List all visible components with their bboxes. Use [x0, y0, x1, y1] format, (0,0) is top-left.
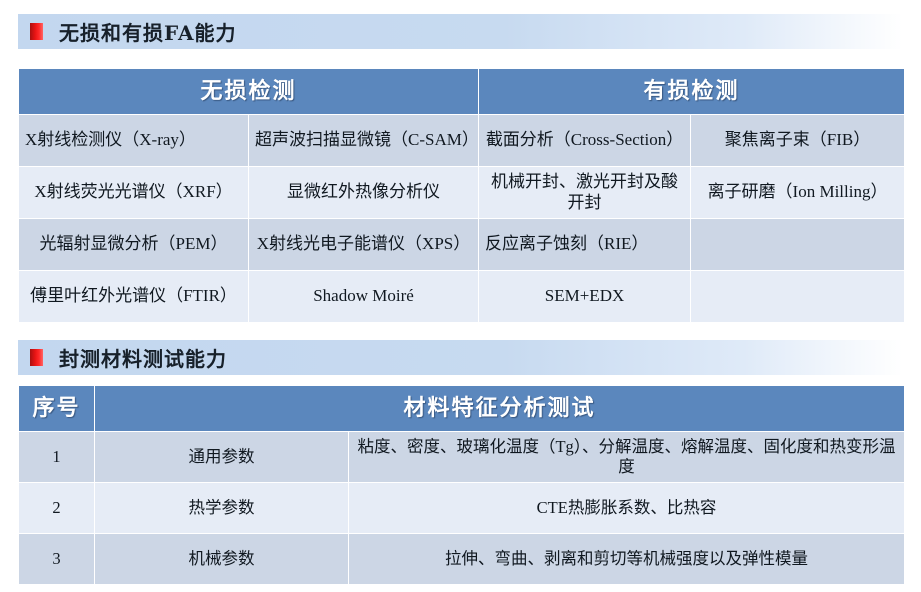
fa-capability-table: 无损检测 有损检测 X射线检测仪（X-ray） 超声波扫描显微镜（C-SAM） … — [18, 68, 905, 323]
cell-d-1-2: 聚焦离子束（FIB） — [691, 115, 905, 167]
cell-mat-2-category: 热学参数 — [95, 483, 349, 534]
cell-mat-1-detail: 粘度、密度、玻璃化温度（Tg）、分解温度、熔解温度、固化度和热变形温度 — [349, 432, 905, 483]
cell-d-4-1: SEM+EDX — [479, 271, 691, 323]
table-row: X射线荧光光谱仪（XRF） 显微红外热像分析仪 机械开封、激光开封及酸开封 离子… — [19, 167, 905, 219]
table-row: 光辐射显微分析（PEM） X射线光电子能谱仪（XPS） 反应离子蚀刻（RIE） — [19, 219, 905, 271]
fa-header-nondestructive: 无损检测 — [19, 69, 479, 115]
cell-d-3-1: 反应离子蚀刻（RIE） — [479, 219, 691, 271]
cell-d-3-2 — [691, 219, 905, 271]
cell-nd-1-1: X射线检测仪（X-ray） — [19, 115, 249, 167]
cell-mat-3-no: 3 — [19, 534, 95, 585]
fa-header-destructive: 有损检测 — [479, 69, 905, 115]
cell-d-2-2: 离子研磨（Ion Milling） — [691, 167, 905, 219]
cell-nd-3-2: X射线光电子能谱仪（XPS） — [249, 219, 479, 271]
cell-d-1-1: 截面分析（Cross-Section） — [479, 115, 691, 167]
section-title-material: 封测材料测试能力 — [59, 343, 227, 372]
cell-mat-3-detail: 拉伸、弯曲、剥离和剪切等机械强度以及弹性模量 — [349, 534, 905, 585]
cell-nd-2-2: 显微红外热像分析仪 — [249, 167, 479, 219]
cell-nd-1-2: 超声波扫描显微镜（C-SAM） — [249, 115, 479, 167]
red-square-bullet-icon — [30, 23, 43, 40]
cell-mat-3-category: 机械参数 — [95, 534, 349, 585]
cell-nd-4-1: 傅里叶红外光谱仪（FTIR） — [19, 271, 249, 323]
table-row: 2 热学参数 CTE热膨胀系数、比热容 — [19, 483, 905, 534]
material-capability-table: 序号 材料特征分析测试 1 通用参数 粘度、密度、玻璃化温度（Tg）、分解温度、… — [18, 385, 905, 585]
table-row: 1 通用参数 粘度、密度、玻璃化温度（Tg）、分解温度、熔解温度、固化度和热变形… — [19, 432, 905, 483]
cell-mat-2-detail: CTE热膨胀系数、比热容 — [349, 483, 905, 534]
cell-d-4-2 — [691, 271, 905, 323]
table-row: X射线检测仪（X-ray） 超声波扫描显微镜（C-SAM） 截面分析（Cross… — [19, 115, 905, 167]
cell-nd-4-2: Shadow Moiré — [249, 271, 479, 323]
cell-d-2-1: 机械开封、激光开封及酸开封 — [479, 167, 691, 219]
cell-nd-2-1: X射线荧光光谱仪（XRF） — [19, 167, 249, 219]
red-square-bullet-icon — [30, 349, 43, 366]
section-title-fa: 无损和有损FA能力 — [59, 17, 237, 46]
cell-mat-2-no: 2 — [19, 483, 95, 534]
cell-nd-3-1: 光辐射显微分析（PEM） — [19, 219, 249, 271]
fa-table-header-row: 无损检测 有损检测 — [19, 69, 905, 115]
material-header-index: 序号 — [19, 386, 95, 432]
table-row: 傅里叶红外光谱仪（FTIR） Shadow Moiré SEM+EDX — [19, 271, 905, 323]
material-header-title: 材料特征分析测试 — [95, 386, 905, 432]
cell-mat-1-no: 1 — [19, 432, 95, 483]
material-table-header-row: 序号 材料特征分析测试 — [19, 386, 905, 432]
slide-page: 无损和有损FA能力 无损检测 有损检测 X射线检测仪（X-ray） 超声波扫描显… — [0, 0, 921, 592]
section-header-material: 封测材料测试能力 — [18, 340, 903, 375]
section-header-fa: 无损和有损FA能力 — [18, 14, 903, 49]
table-row: 3 机械参数 拉伸、弯曲、剥离和剪切等机械强度以及弹性模量 — [19, 534, 905, 585]
cell-mat-1-category: 通用参数 — [95, 432, 349, 483]
